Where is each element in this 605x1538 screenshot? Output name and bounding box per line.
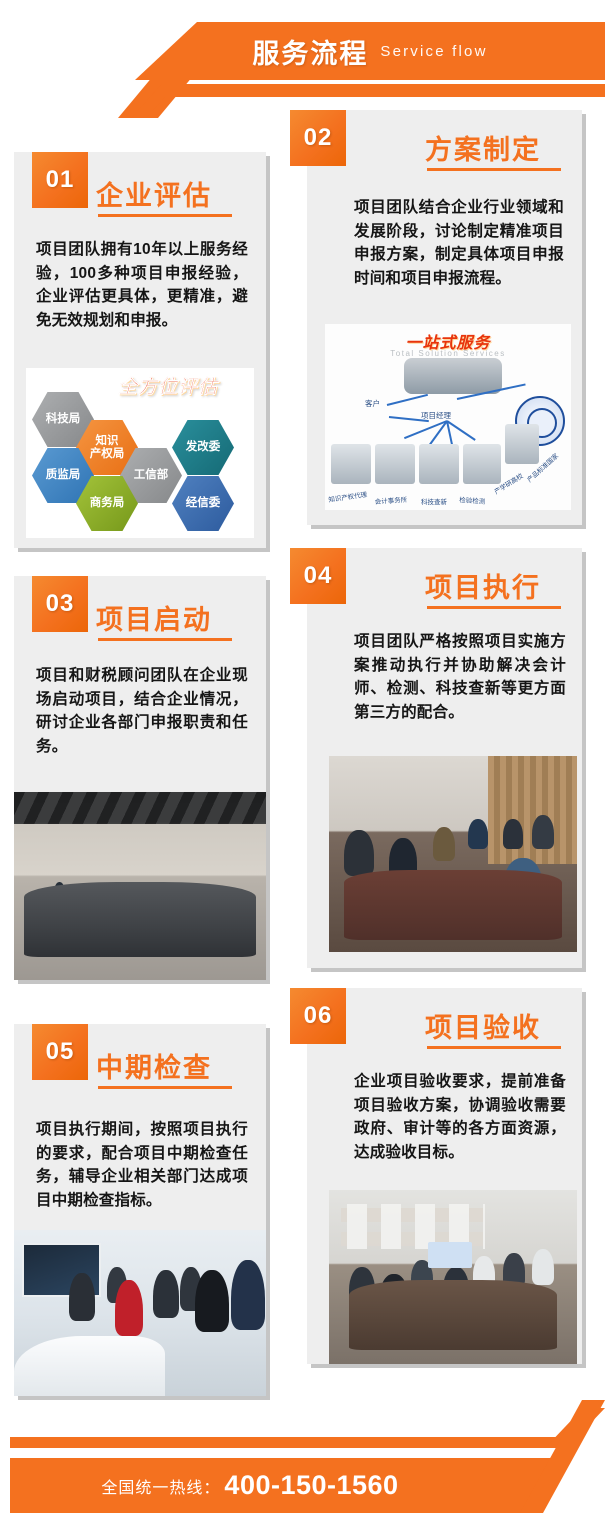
hex-diagram-title: 全方位评估 bbox=[118, 372, 218, 399]
all-round-assessment-diagram: 全方位评估 科技局 知识产权局 质监局 工信部 商务局 发改委 经信委 bbox=[26, 368, 254, 538]
project-acceptance-meeting-photo bbox=[329, 1190, 577, 1364]
thumb-university bbox=[505, 424, 539, 464]
thumb-ip-agency bbox=[331, 444, 371, 484]
card-02-description: 项目团队结合企业行业领域和发展阶段，讨论制定精准项目申报方案，制定具体项目申报时… bbox=[354, 196, 564, 290]
footer-bar-tail bbox=[520, 1400, 605, 1513]
label-ip-agency: 知识产权代理 bbox=[328, 489, 368, 504]
card-01-title: 企业评估 bbox=[96, 174, 212, 213]
thumb-tech-search bbox=[419, 444, 459, 484]
card-06-number-badge: 06 bbox=[290, 988, 346, 1044]
card-06-title-rule bbox=[427, 1046, 561, 1049]
label-tech-search: 科技查新 bbox=[421, 496, 447, 506]
card-05-number-badge: 05 bbox=[32, 1024, 88, 1080]
cards-grid: 01 企业评估 项目团队拥有10年以上服务经验，100多种项目申报经验，企业评估… bbox=[0, 0, 605, 1538]
hotline-label: 全国统一热线： bbox=[101, 1474, 220, 1498]
card-01-title-rule bbox=[98, 214, 232, 217]
thumb-accounting bbox=[375, 444, 415, 484]
card-04-title-rule bbox=[427, 606, 561, 609]
card-04-number-badge: 04 bbox=[290, 548, 346, 604]
node-label-customer: 客户 bbox=[365, 398, 380, 409]
one-stop-service-subtitle: Total Solution Services bbox=[325, 349, 571, 358]
card-04-title: 项目执行 bbox=[425, 566, 541, 605]
card-05-title-rule bbox=[98, 1086, 232, 1089]
card-05-title: 中期检查 bbox=[96, 1046, 212, 1085]
hotline-number[interactable]: 400-150-1560 bbox=[224, 1470, 398, 1501]
card-05-description: 项目执行期间，按照项目执行的要求，配合项目中期检查任务，辅导企业相关部门达成项目… bbox=[36, 1118, 248, 1212]
label-accounting: 会计事务所 bbox=[374, 494, 407, 506]
card-02-title-rule bbox=[427, 168, 561, 171]
project-kickoff-meeting-photo bbox=[14, 792, 266, 980]
card-04-description: 项目团队严格按照项目实施方案推动执行并协助解决会计师、检测、科技查新等更方面第三… bbox=[354, 630, 566, 724]
label-inspection: 检验检测 bbox=[459, 494, 486, 506]
card-06-description: 企业项目验收要求，提前准备项目验收方案，协调验收需要政府、审计等的各方面资源，达… bbox=[354, 1070, 566, 1164]
thumb-inspection bbox=[463, 444, 501, 484]
meeting-photo-thumb bbox=[404, 358, 502, 394]
card-06-title: 项目验收 bbox=[425, 1006, 541, 1045]
one-stop-service-diagram: 一站式服务 Total Solution Services 客户 项目经理 bbox=[325, 324, 571, 510]
card-02-number-badge: 02 bbox=[290, 110, 346, 166]
card-02-title: 方案制定 bbox=[425, 128, 541, 167]
card-03-title-rule bbox=[98, 638, 232, 641]
card-03-title: 项目启动 bbox=[96, 598, 212, 637]
hex-node-fagai: 发改委 bbox=[172, 420, 234, 475]
card-03-number-badge: 03 bbox=[32, 576, 88, 632]
card-01-description: 项目团队拥有10年以上服务经验，100多种项目申报经验，企业评估更具体，更精准，… bbox=[36, 238, 248, 332]
hex-node-jingxin: 经信委 bbox=[172, 476, 234, 531]
card-03-description: 项目和财税顾问团队在企业现场启动项目，结合企业情况，研讨企业各部门申报职责和任务… bbox=[36, 664, 248, 758]
footer-stripe bbox=[10, 1437, 570, 1448]
project-execution-meeting-photo bbox=[329, 756, 577, 952]
page-footer: 全国统一热线： 400-150-1560 bbox=[0, 1400, 605, 1538]
hotline-group: 全国统一热线： 400-150-1560 bbox=[10, 1458, 490, 1513]
card-01-number-badge: 01 bbox=[32, 152, 88, 208]
mid-term-inspection-photo bbox=[14, 1230, 266, 1396]
service-flow-infographic: 服务流程 Service flow 01 企业评估 项目团队拥有10年以上服务经… bbox=[0, 0, 605, 1538]
